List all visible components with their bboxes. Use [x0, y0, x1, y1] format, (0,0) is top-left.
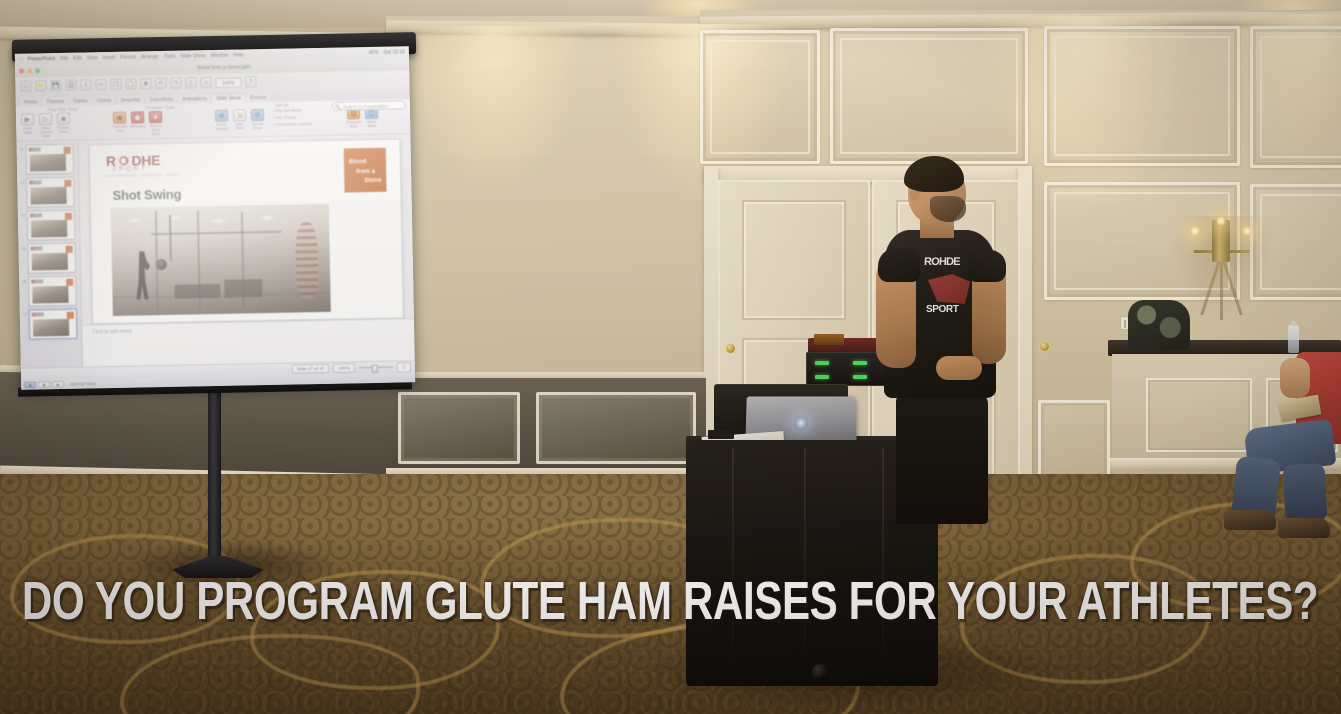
wall-panel	[830, 28, 1028, 164]
minimize-icon[interactable]	[27, 68, 32, 73]
undo-icon[interactable]: ↶	[155, 78, 166, 89]
thumbnail-number: 27	[22, 310, 27, 317]
menu-item-insert[interactable]: Insert	[103, 54, 116, 60]
gym-ceiling-light	[211, 218, 227, 224]
ribbon-item-label: Action Settings	[214, 123, 229, 132]
set-up-show-icon: ⚙	[251, 109, 264, 121]
thumbnail-row[interactable]: 22	[19, 144, 77, 175]
wall-panel-inner	[710, 40, 810, 154]
help-icon[interactable]: ?	[245, 76, 256, 87]
thumbnail-number: 26	[21, 277, 26, 284]
powerpoint-window:  PowerPoint File Edit View Insert Forma…	[15, 46, 415, 390]
drape-fold	[804, 448, 806, 678]
thumbnail-number: 24	[20, 211, 25, 218]
thumbnail-badge	[64, 146, 71, 153]
case-wheel	[812, 664, 828, 680]
thumbnail-logo-icon	[31, 246, 43, 250]
sconce-flame	[1190, 226, 1200, 236]
thumbnail-badge	[66, 278, 73, 285]
action-settings-icon: ⚙	[215, 110, 228, 122]
view-normal-button[interactable]: ▣	[24, 381, 36, 388]
shirt-graphic-icon	[928, 274, 970, 304]
wall-panel	[1044, 26, 1240, 166]
thumbnail-row[interactable]: 26	[21, 276, 79, 307]
rack-led-indicator	[815, 361, 829, 365]
slide-indicator[interactable]: Slide 27 of 37	[292, 364, 330, 374]
rack-led-indicator	[853, 375, 867, 379]
menu-item-edit[interactable]: Edit	[73, 55, 82, 61]
ribbon-item-label: Set Up Show	[250, 122, 265, 131]
ribbon-item-rehearse[interactable]: ⏰ Rehearse	[130, 111, 145, 128]
new-slide-icon[interactable]: ☐	[20, 81, 31, 92]
thumbnail-photo	[33, 319, 69, 337]
ribbon-group-set-up: Set Up ⚙ Action Settings ⇲ Hide Slide	[214, 101, 351, 137]
slide-thumbnail[interactable]	[26, 177, 75, 208]
ribbon-item-label: Rehearse	[130, 124, 145, 128]
presenter-person: ROHDE SPORT	[876, 160, 1026, 520]
redo-icon[interactable]: ↷	[170, 78, 181, 89]
logo-tagline: PERFORMANCE • STRENGTH • SPEED	[106, 173, 180, 178]
ribbon-item-hide-slide[interactable]: ⇲ Hide Slide	[232, 109, 247, 131]
door-knob-icon[interactable]	[1040, 342, 1049, 351]
ribbon-item-label: Custom Show	[56, 126, 71, 135]
ribbon-item-label: Presenter View	[112, 125, 127, 134]
thumbnail-photo	[32, 253, 68, 271]
menu-bar-clock[interactable]: Sat 10:18	[383, 49, 405, 55]
water-bottle	[1288, 325, 1299, 353]
toolbar-zoom-value[interactable]: 100%	[215, 77, 241, 87]
record-slide-show-icon: ●	[149, 111, 162, 123]
thumbnail-row[interactable]: 27	[22, 309, 80, 340]
wall-panel-inner	[840, 38, 1018, 154]
presenter-shirt-logo: ROHDE SPORT	[924, 256, 980, 322]
thumbnail-row[interactable]: 24	[20, 210, 78, 241]
media-icon[interactable]: ♫	[200, 77, 211, 88]
apple-logo-icon	[794, 416, 808, 430]
format-painter-icon[interactable]: ✽	[140, 78, 151, 89]
slide-thumbnail[interactable]	[28, 276, 77, 307]
import-icon[interactable]: ⇩	[80, 79, 91, 90]
badge-line-3: Stone	[349, 176, 382, 186]
menu-item-tools[interactable]: Tools	[164, 53, 176, 59]
presenter-legs	[896, 392, 988, 524]
zoom-slider[interactable]	[359, 363, 393, 372]
shirt-text-sport: SPORT	[926, 304, 958, 315]
av-amber-module	[814, 334, 844, 345]
paste-icon[interactable]: 📋	[125, 78, 136, 89]
thumbnail-logo-icon	[32, 312, 44, 316]
shirt-text-rohde: ROHDE	[924, 256, 960, 268]
sconce-flame	[1216, 216, 1226, 226]
ribbon-item-presenter-view[interactable]: ▣ Presenter View	[112, 112, 127, 134]
gym-equipment-rack	[295, 222, 318, 298]
presenter-hands	[936, 356, 982, 380]
ribbon-item-label: Record Slide Show	[148, 124, 163, 137]
attendee-shin	[1283, 463, 1328, 523]
ribbon-item-label: From Current Slide	[38, 126, 53, 139]
ribbon-group-label: Presenter Tools	[112, 104, 208, 111]
open-icon[interactable]: 📁	[35, 80, 46, 91]
fit-to-window-button[interactable]: ☐	[397, 362, 411, 372]
ribbon-search-box[interactable]: Search in Presentation	[332, 100, 406, 110]
menu-item-file[interactable]: File	[60, 55, 68, 61]
view-slide-show-button[interactable]: ▶	[52, 380, 64, 387]
copy-icon[interactable]: ❐	[110, 79, 121, 90]
ribbon-item-from-start[interactable]: ▶ From Start	[20, 113, 35, 135]
thumbnail-photo	[31, 220, 67, 238]
battery-percent[interactable]: 45%	[368, 49, 378, 55]
wall-panel	[536, 392, 696, 464]
menu-item-window[interactable]: Window	[210, 52, 228, 58]
ribbon-item-set-up-show[interactable]: ⚙ Set Up Show	[250, 109, 265, 131]
sconce-shadow-leg	[1220, 254, 1223, 320]
door-panel	[742, 200, 846, 320]
menu-item-arrange[interactable]: Arrange	[141, 54, 159, 60]
sconce-body	[1212, 220, 1230, 262]
thumbnail-logo-icon	[29, 147, 41, 151]
ribbon-item-label: From Start	[20, 126, 35, 135]
slide-badge[interactable]: Blood from a Stone	[344, 148, 387, 193]
ribbon-group-presenter-tools: Presenter Tools ▣ Presenter View ⏰ Rehea…	[112, 104, 209, 139]
checkbox-show-media-controls[interactable]: Show Media Controls	[272, 122, 311, 130]
gym-ceiling-light	[259, 215, 275, 221]
thumbnail-badge	[67, 311, 74, 318]
wall-panel	[700, 30, 820, 164]
zoom-level[interactable]: 100%	[333, 363, 355, 372]
projection-screen-assembly:  PowerPoint File Edit View Insert Forma…	[12, 36, 416, 566]
ribbon-item-label: Presenter View	[346, 120, 361, 129]
custom-show-icon: ◉	[57, 113, 70, 125]
menu-item-view[interactable]: View	[87, 55, 98, 61]
slide-thumbnail[interactable]	[26, 144, 75, 175]
notes-pane[interactable]: Click to add notes	[82, 318, 415, 366]
menu-item-powerpoint[interactable]: PowerPoint	[28, 56, 56, 63]
zoom-icon[interactable]	[35, 68, 40, 73]
ribbon-item-record-slide-show[interactable]: ● Record Slide Show	[148, 111, 163, 137]
ribbon-item-custom-show[interactable]: ◉ Custom Show	[56, 113, 71, 135]
drape-fold	[732, 448, 734, 678]
thumbnail-photo	[30, 187, 66, 205]
play-from-start-icon: ▶	[21, 113, 34, 125]
thumbnail-number: 22	[19, 145, 24, 152]
thumbnail-photo	[32, 286, 68, 304]
rack-led-indicator	[815, 375, 829, 379]
thumbnail-logo-icon	[30, 213, 42, 217]
video-caption-bar: DO YOU PROGRAM GLUTE HAM RAISES FOR YOUR…	[0, 566, 1341, 636]
slide-thumbnail-panel[interactable]: 22 23	[17, 141, 83, 368]
print-icon[interactable]: 🖨	[65, 80, 76, 91]
menu-item-slide-show[interactable]: Slide Show	[180, 53, 205, 59]
wall-panel-inner	[1260, 36, 1341, 158]
attendee-shoe	[1224, 510, 1276, 530]
ribbon-group-items: ▶ From Start ▷ From Current Slide ◉ Cust…	[20, 113, 71, 139]
slide-thumbnail[interactable]	[27, 210, 76, 241]
thumbnail-badge	[65, 245, 72, 252]
view-slide-sorter-button[interactable]: ▦	[38, 381, 50, 388]
gym-athlete-figure	[134, 251, 151, 299]
thumbnail-badge	[65, 212, 72, 219]
ribbon-group-items: ▣ Presenter View ⏰ Rehearse ● Record Sli…	[112, 111, 163, 137]
presenter-hair	[904, 156, 964, 192]
thumbnail-photo	[30, 154, 66, 172]
apple-menu-icon[interactable]: 	[19, 56, 23, 62]
remote-clicker[interactable]	[708, 430, 734, 439]
slide-video-frame[interactable]	[111, 204, 331, 316]
ribbon-group-items: ⚙ Action Settings ⇲ Hide Slide ⚙ Set Up …	[214, 109, 265, 131]
rack-led-indicator	[853, 361, 867, 365]
presenter-beard	[930, 196, 966, 222]
thumbnail-logo-icon	[29, 180, 41, 184]
seated-attendee	[1218, 352, 1341, 552]
video-frame:  PowerPoint File Edit View Insert Forma…	[0, 0, 1341, 714]
presenter-view-icon: ▣	[113, 112, 126, 124]
ribbon-checkbox-list[interactable]: Play Narrations Use Timings Show Media C…	[272, 107, 312, 129]
ribbon-item-label: Mirror Show	[364, 120, 379, 129]
presenter-left-sleeve	[878, 248, 920, 282]
slide-thumbnail-selected[interactable]	[29, 309, 78, 340]
thumbnail-number: 25	[20, 244, 25, 251]
thumbnail-logo-icon	[31, 279, 43, 283]
sconce-flame	[1242, 226, 1252, 236]
thumbnail-badge	[64, 179, 71, 186]
hide-slide-icon: ⇲	[233, 109, 246, 121]
ribbon-item-from-current[interactable]: ▷ From Current Slide	[38, 113, 53, 139]
caption-text: DO YOU PROGRAM GLUTE HAM RAISES FOR YOUR…	[22, 574, 1318, 628]
menu-bar-spacer	[249, 53, 364, 55]
ribbon-group-play-slide-show: Play Slide Show ▶ From Start ▷ From Curr…	[20, 106, 107, 141]
gym-shot-ball	[156, 259, 167, 270]
menu-item-help[interactable]: Help	[233, 52, 243, 58]
logo-subtitle: SPORT	[112, 166, 148, 173]
slide-thumbnail[interactable]	[27, 243, 76, 274]
ribbon-item-action-settings[interactable]: ⚙ Action Settings	[214, 110, 229, 132]
menu-item-format[interactable]: Format	[120, 54, 136, 60]
wall-panel-inner	[1054, 36, 1230, 156]
slide-title[interactable]: Shot Swing	[112, 187, 181, 203]
wall-panel	[1250, 26, 1341, 168]
gym-rope	[169, 215, 172, 261]
rehearse-icon: ⏰	[131, 111, 144, 123]
save-icon[interactable]: 💾	[50, 80, 61, 91]
text-box-icon[interactable]: ▯	[185, 77, 196, 88]
projection-surface:  PowerPoint File Edit View Insert Forma…	[15, 46, 415, 390]
cut-icon[interactable]: ✂	[95, 79, 106, 90]
ribbon-item-label: Hide Slide	[232, 122, 247, 131]
ribbon-group-label: Play Slide Show	[20, 106, 106, 113]
thumbnail-row[interactable]: 23	[19, 177, 77, 208]
screen-tripod-post	[208, 388, 221, 564]
gym-ceiling-light	[127, 217, 143, 223]
close-icon[interactable]	[19, 69, 24, 74]
view-label: Normal View	[70, 381, 96, 386]
thumbnail-number: 23	[19, 178, 24, 185]
wall-panel	[398, 392, 520, 464]
current-slide[interactable]: R DHE SPORT PERFORMANCE • STRENGTH • SPE…	[89, 138, 404, 324]
attendee-shoe	[1278, 518, 1330, 538]
thumbnail-row[interactable]: 25	[20, 243, 78, 274]
attendee-arm	[1280, 358, 1310, 398]
wall-sconce	[1176, 206, 1268, 316]
play-from-current-icon: ▷	[39, 113, 52, 125]
